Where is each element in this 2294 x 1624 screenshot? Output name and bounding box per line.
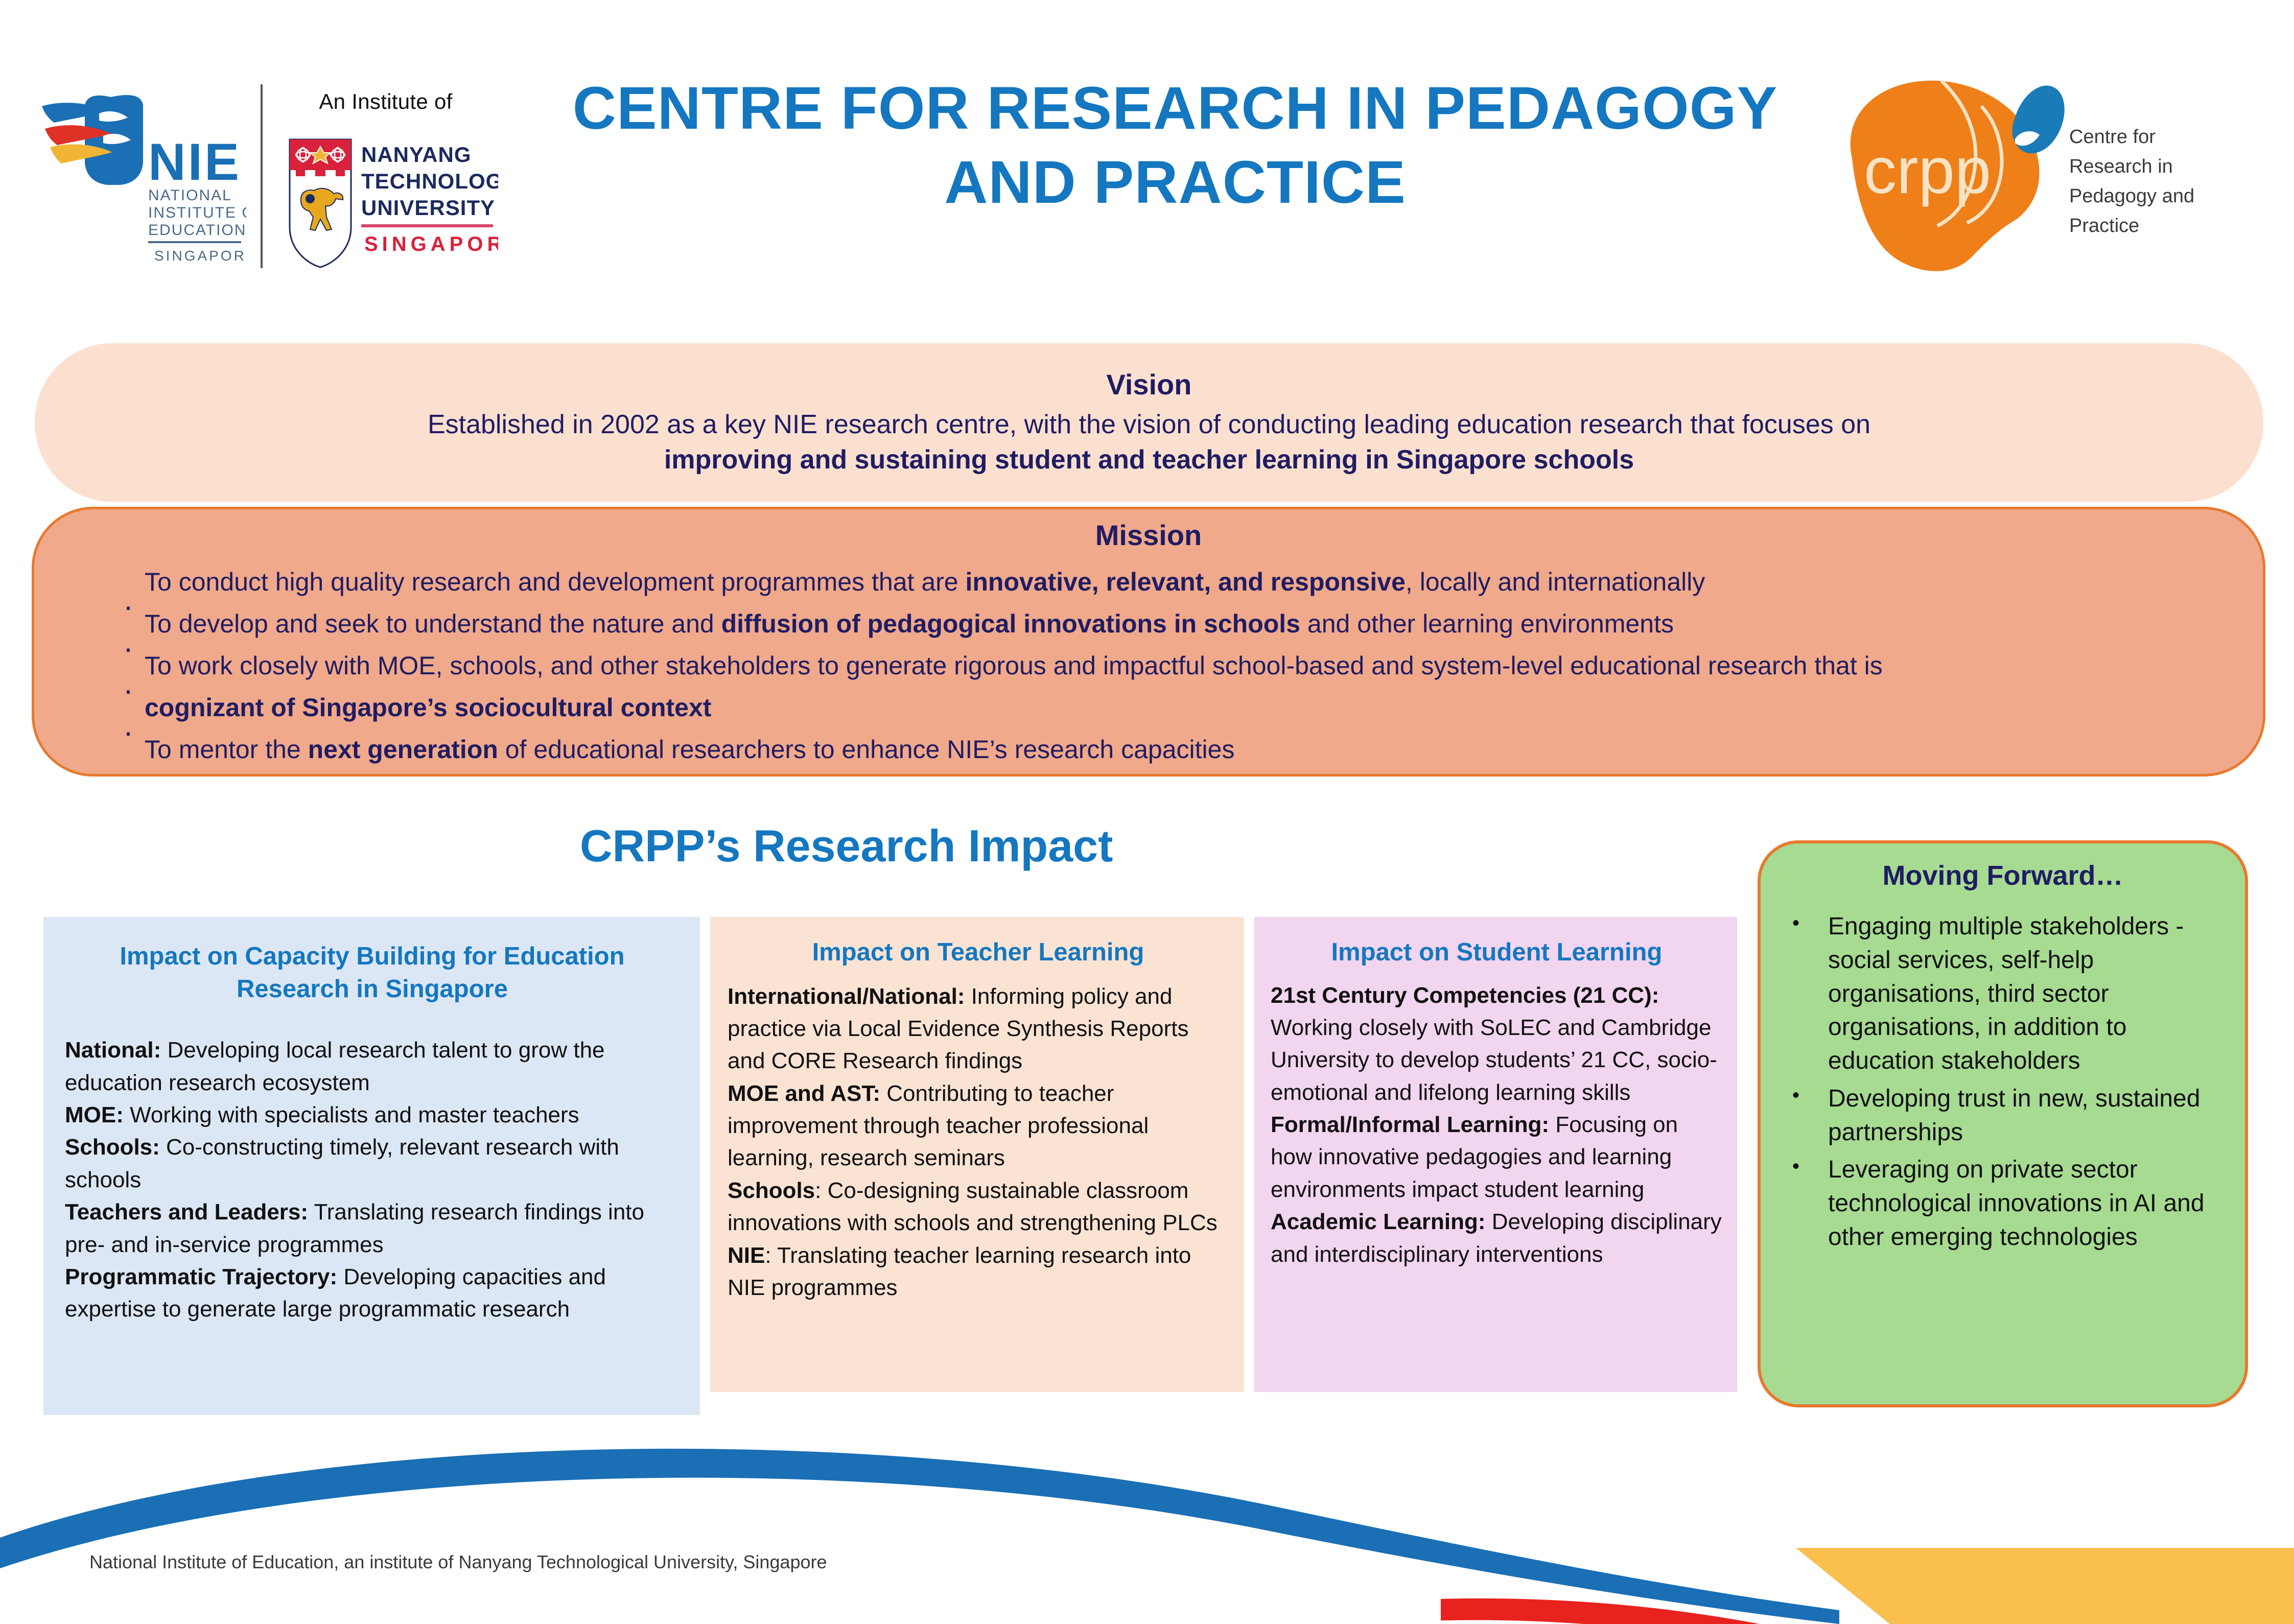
moving-forward-item-text: Engaging multiple stakeholders - social … bbox=[1828, 910, 2233, 1078]
bullet-marker: · bbox=[123, 633, 133, 664]
ntu-logo-svg: NANYANG TECHNOLOGICAL UNIVERSITY SINGAPO… bbox=[278, 135, 498, 273]
bullet-marker: • bbox=[1792, 1085, 1799, 1105]
column-title: Impact on Student Learning bbox=[1271, 936, 1723, 969]
column-item: National: Developing local research tale… bbox=[65, 1034, 680, 1099]
mission-bullet-item: ·cognizant of Singapore’s sociocultural … bbox=[101, 687, 2236, 729]
crpp-tagline-line3: Pedagogy and bbox=[2069, 185, 2194, 207]
vision-panel: Vision Established in 2002 as a key NIE … bbox=[35, 343, 2263, 502]
column-item-label: Schools: bbox=[65, 1135, 160, 1160]
poster-header: NIE NATIONAL INSTITUTE OF EDUCATION SING… bbox=[0, 0, 2294, 327]
moving-forward-item: •Engaging multiple stakeholders - social… bbox=[1783, 910, 2233, 1078]
svg-text:EDUCATION: EDUCATION bbox=[148, 222, 246, 239]
svg-text:SINGAPORE: SINGAPORE bbox=[364, 233, 498, 255]
svg-text:UNIVERSITY: UNIVERSITY bbox=[361, 196, 495, 220]
column-item: Programmatic Trajectory: Developing capa… bbox=[65, 1261, 680, 1326]
mission-bullet-list: To conduct high quality research and dev… bbox=[101, 561, 2236, 771]
column-item: MOE and AST: Contributing to teacher imp… bbox=[728, 1077, 1229, 1174]
footer-yellow-block bbox=[1796, 1548, 2294, 1624]
an-institute-of-label: An Institute of bbox=[278, 89, 493, 114]
mission-panel: Mission To conduct high quality research… bbox=[32, 507, 2265, 776]
moving-forward-item: •Developing trust in new, sustained part… bbox=[1783, 1082, 2233, 1149]
impact-column-student-learning: Impact on Student Learning 21st Century … bbox=[1254, 917, 1737, 1392]
column-item-text: Working with specialists and master teac… bbox=[124, 1102, 579, 1127]
column-item: NIE: Translating teacher learning resear… bbox=[728, 1239, 1229, 1304]
column-item: International/National: Informing policy… bbox=[728, 980, 1229, 1077]
poster-page: NIE NATIONAL INSTITUTE OF EDUCATION SING… bbox=[0, 0, 2294, 1624]
column-item: Schools: Co-constructing timely, relevan… bbox=[65, 1131, 680, 1196]
column-item: Academic Learning: Developing disciplina… bbox=[1271, 1206, 1723, 1270]
column-body: National: Developing local research tale… bbox=[65, 1034, 680, 1325]
mission-bullet-item: To conduct high quality research and dev… bbox=[101, 561, 2236, 603]
crpp-logo: crpp Centre for Research in Pedagogy and… bbox=[1804, 56, 2263, 276]
mission-bullet-item: ·To work closely with MOE, schools, and … bbox=[101, 645, 2236, 687]
column-item-label: Programmatic Trajectory: bbox=[65, 1264, 337, 1289]
column-item: Teachers and Leaders: Translating resear… bbox=[65, 1196, 680, 1261]
moving-forward-panel: Moving Forward… •Engaging multiple stake… bbox=[1758, 840, 2248, 1407]
moving-forward-item-text: Leveraging on private sector technologic… bbox=[1828, 1153, 2233, 1254]
mission-bullet-item: ·To develop and seek to understand the n… bbox=[101, 603, 2236, 645]
column-item-label: Formal/Informal Learning: bbox=[1271, 1112, 1549, 1137]
page-title: CENTRE FOR RESEARCH IN PEDAGOGY AND PRAC… bbox=[521, 72, 1829, 220]
footer-swoosh-graphic bbox=[0, 1410, 2294, 1624]
impact-column-capacity-building: Impact on Capacity Building for Educatio… bbox=[43, 917, 700, 1415]
mission-bullet-text: cognizant of Singapore’s sociocultural c… bbox=[145, 687, 2236, 728]
crpp-logo-svg: crpp Centre for Research in Pedagogy and… bbox=[1804, 56, 2263, 276]
crpp-tagline-line4: Practice bbox=[2069, 215, 2139, 237]
mission-bullet-text: To mentor the next generation of educati… bbox=[145, 729, 2236, 770]
mission-title: Mission bbox=[34, 519, 2263, 552]
vision-line-2: improving and sustaining student and tea… bbox=[664, 442, 1634, 478]
poster-footer: National Institute of Education, an inst… bbox=[0, 1410, 2294, 1624]
nie-logo-svg: NIE NATIONAL INSTITUTE OF EDUCATION SING… bbox=[32, 82, 246, 271]
impact-column-teacher-learning: Impact on Teacher Learning International… bbox=[710, 917, 1244, 1392]
column-body: 21st Century Competencies (21 CC): Worki… bbox=[1271, 979, 1723, 1270]
column-item-text: : Translating teacher learning research … bbox=[728, 1243, 1191, 1300]
bullet-marker: • bbox=[1792, 913, 1799, 933]
column-item-label: National: bbox=[65, 1038, 161, 1063]
svg-text:crpp: crpp bbox=[1864, 134, 1991, 207]
moving-forward-list: •Engaging multiple stakeholders - social… bbox=[1783, 910, 2233, 1258]
bullet-marker: · bbox=[123, 717, 133, 747]
svg-text:NIE: NIE bbox=[148, 133, 241, 191]
column-item-label: 21st Century Competencies (21 CC): bbox=[1271, 983, 1659, 1008]
svg-text:TECHNOLOGICAL: TECHNOLOGICAL bbox=[361, 169, 498, 193]
mission-bullet-item: ·To mentor the next generation of educat… bbox=[101, 729, 2236, 771]
column-title: Impact on Teacher Learning bbox=[728, 936, 1229, 969]
vision-title: Vision bbox=[1106, 368, 1191, 401]
column-item-label: Teachers and Leaders: bbox=[65, 1199, 308, 1225]
column-item-label: Schools bbox=[728, 1178, 815, 1203]
column-item: Schools: Co-designing sustainable classr… bbox=[728, 1174, 1229, 1239]
moving-forward-item: •Leveraging on private sector technologi… bbox=[1783, 1153, 2233, 1254]
mission-bullet-text: To conduct high quality research and dev… bbox=[145, 561, 2236, 603]
column-item-label: International/National: bbox=[728, 984, 965, 1009]
footer-text: National Institute of Education, an inst… bbox=[89, 1551, 827, 1573]
mission-bullet-text: To develop and seek to understand the na… bbox=[145, 603, 2236, 645]
footer-blue-arc bbox=[0, 1449, 1839, 1624]
crpp-tagline-line1: Centre for bbox=[2069, 126, 2156, 148]
svg-text:NATIONAL: NATIONAL bbox=[148, 187, 232, 204]
bullet-marker: · bbox=[123, 675, 133, 705]
column-item: 21st Century Competencies (21 CC): Worki… bbox=[1271, 979, 1723, 1109]
logo-divider bbox=[261, 84, 263, 268]
moving-forward-title: Moving Forward… bbox=[1761, 860, 2245, 891]
svg-text:NANYANG: NANYANG bbox=[361, 143, 471, 167]
column-item-label: Academic Learning: bbox=[1271, 1209, 1486, 1234]
bullet-marker: · bbox=[123, 591, 133, 622]
column-item: Formal/Informal Learning: Focusing on ho… bbox=[1271, 1109, 1723, 1206]
bullet-marker: • bbox=[1792, 1156, 1799, 1176]
column-item-label: NIE bbox=[728, 1243, 765, 1268]
research-impact-heading: CRPP’s Research Impact bbox=[580, 820, 1244, 872]
column-item-label: MOE: bbox=[65, 1102, 124, 1127]
moving-forward-item-text: Developing trust in new, sustained partn… bbox=[1828, 1082, 2233, 1149]
column-title: Impact on Capacity Building for Educatio… bbox=[65, 940, 680, 1005]
crpp-tagline-line2: Research in bbox=[2069, 156, 2173, 177]
column-item: MOE: Working with specialists and master… bbox=[65, 1099, 680, 1131]
column-item-label: MOE and AST: bbox=[728, 1081, 880, 1106]
ntu-logo: NANYANG TECHNOLOGICAL UNIVERSITY SINGAPO… bbox=[278, 135, 498, 273]
svg-text:INSTITUTE OF: INSTITUTE OF bbox=[148, 204, 246, 221]
column-item-text: Working closely with SoLEC and Cambridge… bbox=[1271, 1015, 1717, 1105]
mission-bullet-text: To work closely with MOE, schools, and o… bbox=[145, 645, 2236, 687]
vision-line-1: Established in 2002 as a key NIE researc… bbox=[428, 407, 1870, 442]
column-body: International/National: Informing policy… bbox=[728, 980, 1229, 1304]
svg-text:SINGAPORE: SINGAPORE bbox=[154, 248, 246, 264]
nie-logo: NIE NATIONAL INSTITUTE OF EDUCATION SING… bbox=[32, 82, 246, 271]
